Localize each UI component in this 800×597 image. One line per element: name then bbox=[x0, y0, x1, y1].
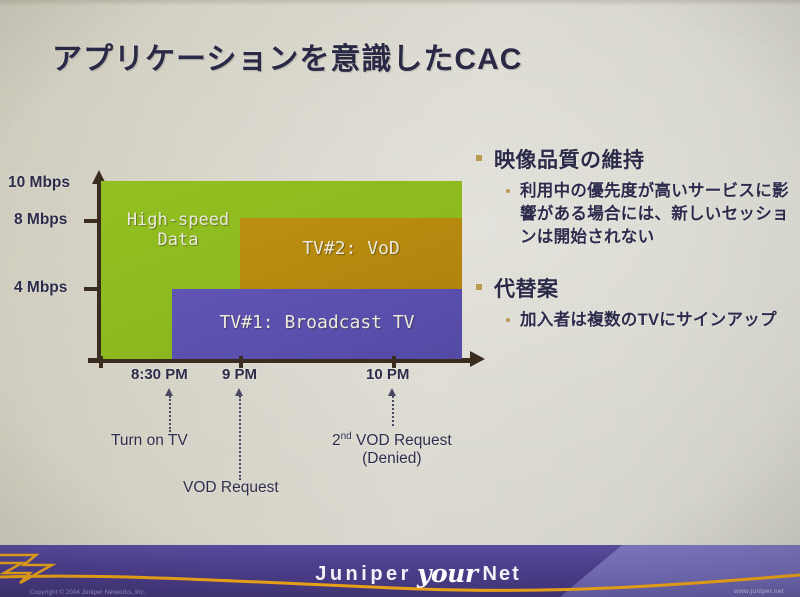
slide-footer: Juniper your Net Copyright © 2004 Junipe… bbox=[0, 545, 800, 597]
bullet-label-video-quality: 映像品質の維持 bbox=[494, 144, 645, 174]
series-label-tv1-broadcast-tv: TV#1: Broadcast TV bbox=[178, 312, 456, 333]
bullet-item-video-quality: 映像品質の維持 bbox=[472, 144, 800, 174]
juniper-arrow-logo-icon bbox=[0, 555, 52, 583]
series-label-high-speed-data: High-speed Data bbox=[118, 210, 238, 250]
series-label-tv2-vod: TV#2: VoD bbox=[248, 238, 454, 259]
y-axis-tick-label-4mbps: 4 Mbps bbox=[14, 279, 67, 297]
square-bullet-icon bbox=[476, 284, 482, 290]
footer-url: www.juniper.net bbox=[734, 588, 784, 595]
sub-bullet-item-priority-policy: 利用中の優先度が高いサービスに影響がある場合には、新しいセッションは開始されない bbox=[506, 180, 800, 249]
bullet-group-video-quality: 映像品質の維持 利用中の優先度が高いサービスに影響がある場合には、新しいセッショ… bbox=[472, 144, 800, 249]
x-axis-origin-tick-mark bbox=[99, 356, 103, 368]
callout-leader-vod-request bbox=[239, 396, 241, 480]
dot-bullet-icon bbox=[506, 189, 510, 193]
bullet-list: 映像品質の維持 利用中の優先度が高いサービスに影響がある場合には、新しいセッショ… bbox=[472, 142, 800, 332]
callout-arrowhead-vod-request bbox=[235, 388, 243, 396]
bullet-item-alternative: 代替案 bbox=[472, 273, 800, 303]
series-label-line1: High-speed bbox=[127, 210, 229, 230]
callout-label-vod-request: VOD Request bbox=[183, 479, 279, 497]
x-axis-tick-label-10pm: 10 PM bbox=[366, 366, 409, 383]
footer-copyright: Copyright © 2004 Juniper Networks, Inc. bbox=[30, 590, 146, 596]
dot-bullet-icon bbox=[506, 318, 510, 322]
callout-second-vod-number: 2 bbox=[332, 432, 341, 449]
slide-canvas: アプリケーションを意識したCAC 10 Mbps 8 Mbps 4 Mbps H… bbox=[0, 0, 800, 597]
sub-bullet-label-priority-policy: 利用中の優先度が高いサービスに影響がある場合には、新しいセッションは開始されない bbox=[520, 180, 800, 249]
x-axis-tick-label-830pm: 8:30 PM bbox=[131, 366, 188, 383]
square-bullet-icon bbox=[476, 155, 482, 161]
callout-label-turn-on-tv: Turn on TV bbox=[111, 432, 188, 450]
y-axis-tick-label-8mbps: 8 Mbps bbox=[14, 211, 67, 229]
bullet-group-alternative: 代替案 加入者は複数のTVにサインアップ bbox=[472, 273, 800, 332]
swoosh-curve-icon bbox=[0, 575, 800, 590]
callout-label-second-vod-request: 2nd VOD Request (Denied) bbox=[332, 431, 452, 468]
callout-second-vod-ordinal: nd bbox=[341, 431, 352, 442]
callout-leader-second-vod-request bbox=[392, 396, 394, 426]
bullet-label-alternative: 代替案 bbox=[494, 273, 559, 303]
sub-bullet-label-multi-tv-signup: 加入者は複数のTVにサインアップ bbox=[520, 309, 777, 332]
callout-leader-turn-on-tv bbox=[169, 396, 171, 432]
callout-second-vod-denied: (Denied) bbox=[332, 450, 452, 468]
callout-arrowhead-second-vod-request bbox=[388, 388, 396, 396]
series-label-line2: Data bbox=[158, 230, 199, 250]
bandwidth-allocation-chart: 10 Mbps 8 Mbps 4 Mbps High-speed Data TV… bbox=[0, 0, 520, 520]
sub-bullet-item-multi-tv-signup: 加入者は複数のTVにサインアップ bbox=[506, 309, 800, 332]
y-axis-tick-label-10mbps: 10 Mbps bbox=[8, 174, 70, 192]
x-axis-arrowhead-icon bbox=[470, 351, 485, 367]
callout-arrowhead-turn-on-tv bbox=[165, 388, 173, 396]
callout-second-vod-text: VOD Request bbox=[352, 432, 452, 449]
x-axis-tick-label-9pm: 9 PM bbox=[222, 366, 257, 383]
